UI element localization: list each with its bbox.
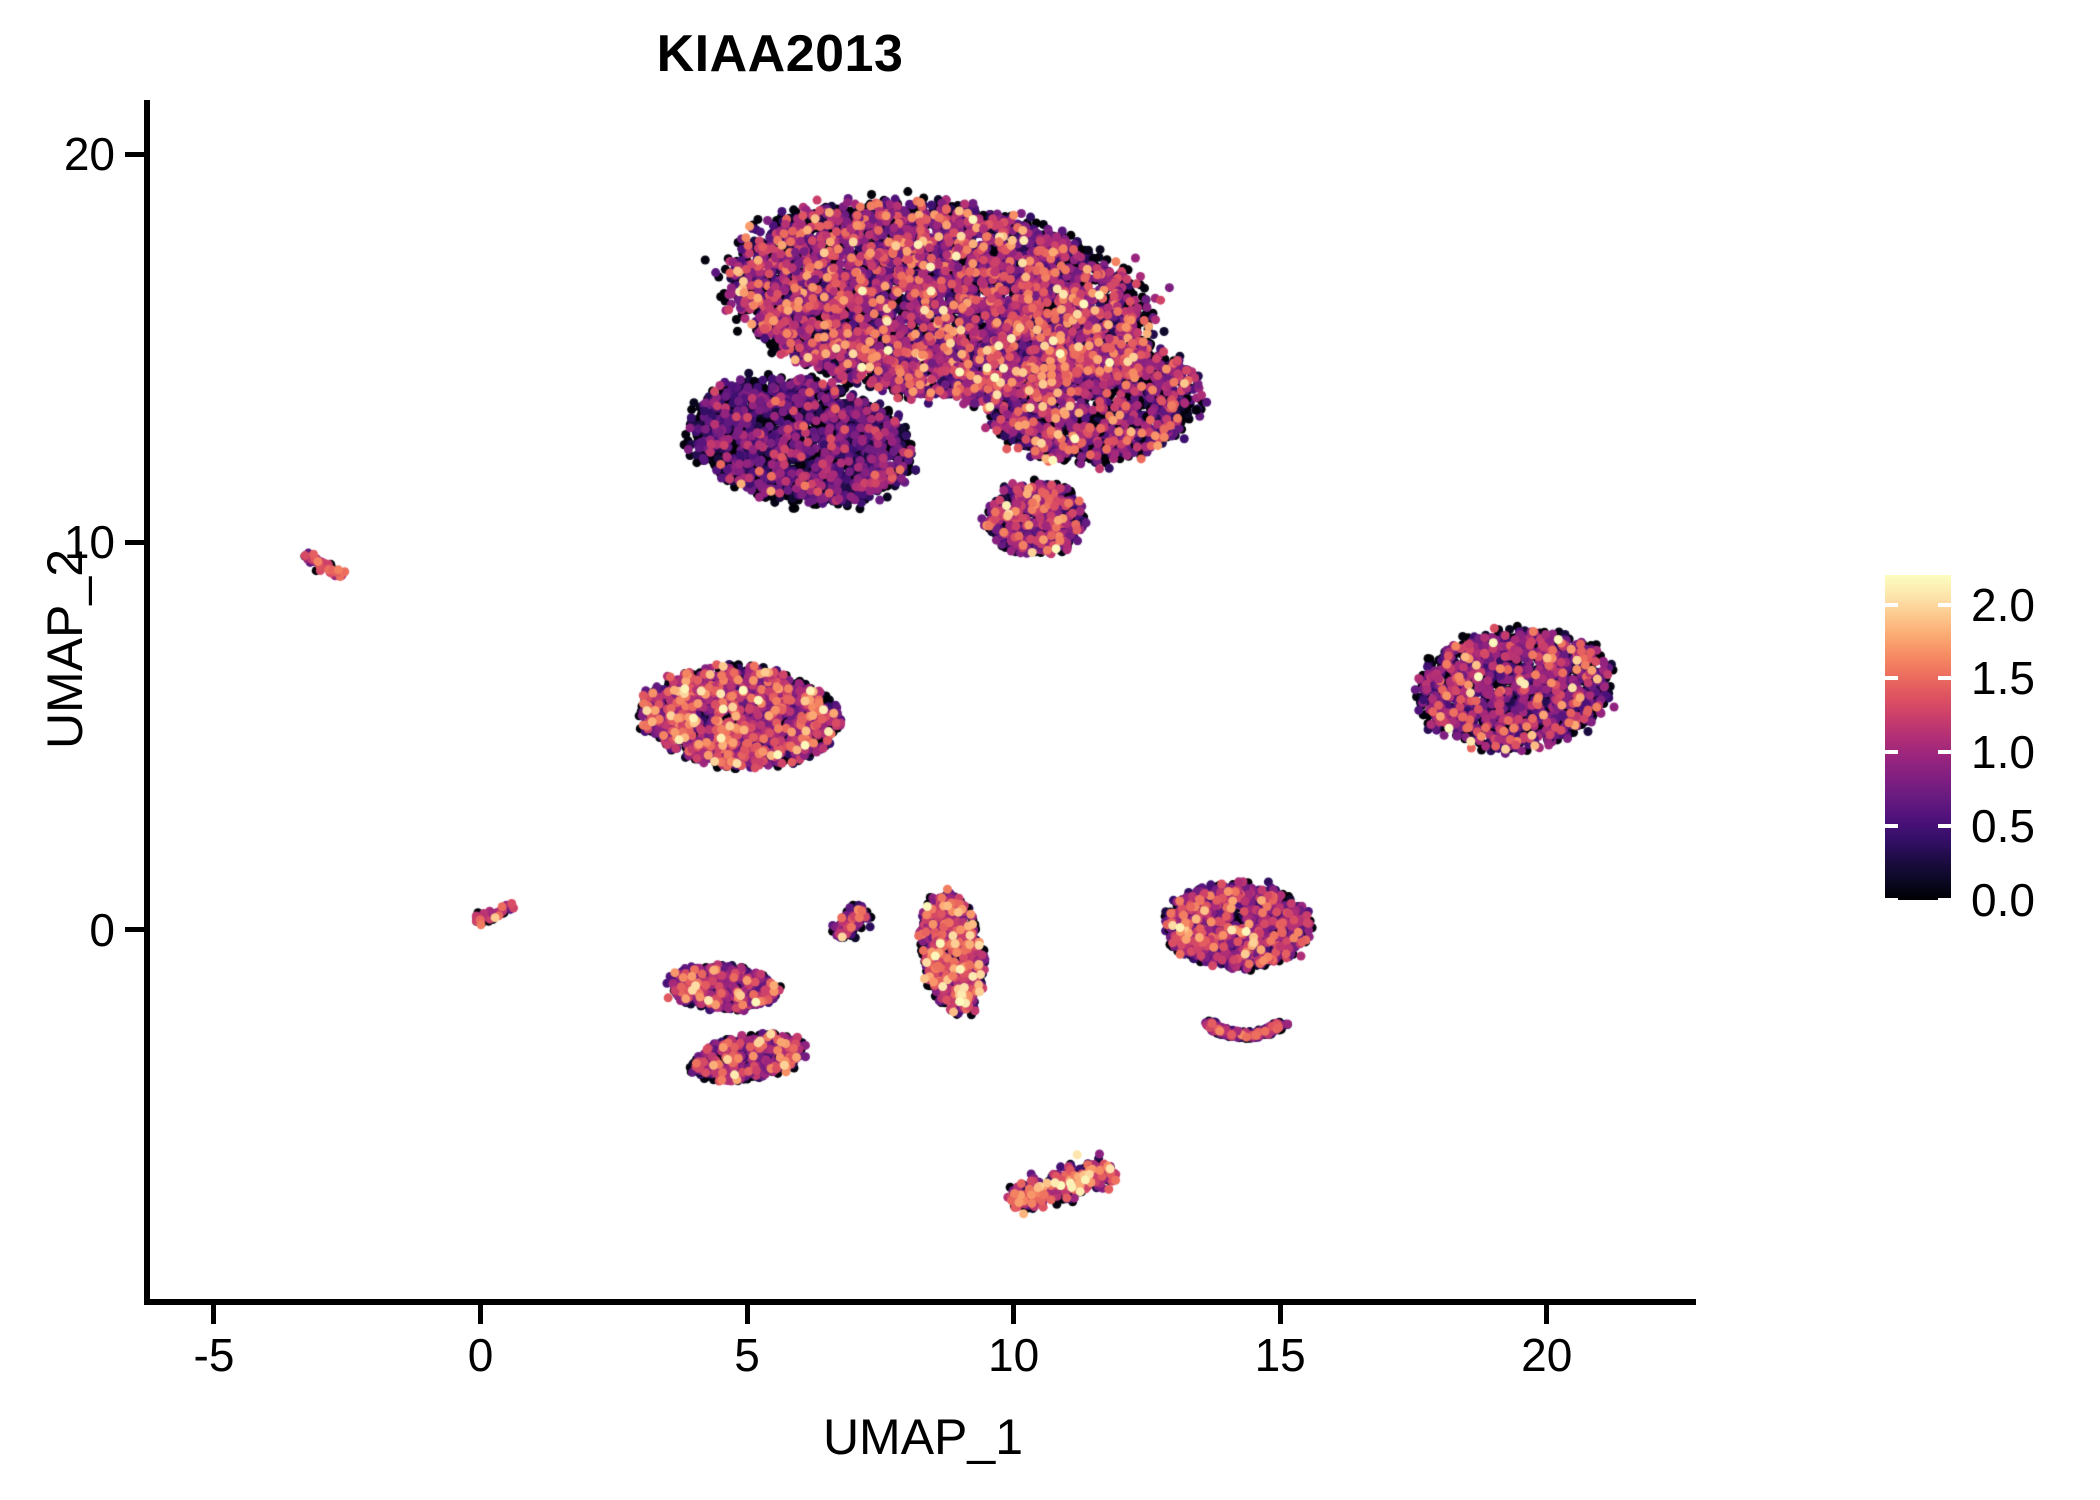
colorbar-canvas <box>1885 575 1951 900</box>
x-tick-mark <box>1011 1305 1016 1324</box>
y-tick-mark <box>125 152 144 157</box>
colorbar-tick-label: 1.0 <box>1971 729 2035 775</box>
x-tick-mark <box>478 1305 483 1324</box>
colorbar-tick-label: 0.0 <box>1971 877 2035 923</box>
umap-feature-plot-figure: KIAA2013 -505101520 01020 UMAP_1 UMAP_2 … <box>0 0 2100 1500</box>
plot-panel <box>150 100 1696 1302</box>
page-title: KIAA2013 <box>0 26 1560 83</box>
y-axis-line <box>144 100 150 1305</box>
x-tick-label: -5 <box>194 1332 235 1378</box>
scatter-plot-canvas <box>150 100 1696 1302</box>
x-axis-line <box>144 1299 1696 1305</box>
x-tick-label: 0 <box>468 1332 494 1378</box>
x-tick-mark <box>1544 1305 1549 1324</box>
colorbar-legend: 0.00.51.01.52.0 <box>1885 575 2075 905</box>
colorbar-tick-label: 0.5 <box>1971 803 2035 849</box>
colorbar-tick-label: 2.0 <box>1971 582 2035 628</box>
x-tick-label: 10 <box>988 1332 1039 1378</box>
x-tick-mark <box>211 1305 216 1324</box>
x-tick-label: 15 <box>1255 1332 1306 1378</box>
y-tick-label: 20 <box>64 131 115 177</box>
y-axis-title: UMAP_2 <box>36 299 94 999</box>
x-tick-mark <box>745 1305 750 1324</box>
x-axis-title: UMAP_1 <box>150 1408 1696 1466</box>
x-tick-label: 20 <box>1521 1332 1572 1378</box>
colorbar-gradient <box>1885 575 1951 900</box>
colorbar-tick-label: 1.5 <box>1971 655 2035 701</box>
x-tick-mark <box>1278 1305 1283 1324</box>
x-tick-label: 5 <box>734 1332 760 1378</box>
y-tick-mark <box>125 540 144 545</box>
y-tick-mark <box>125 927 144 932</box>
